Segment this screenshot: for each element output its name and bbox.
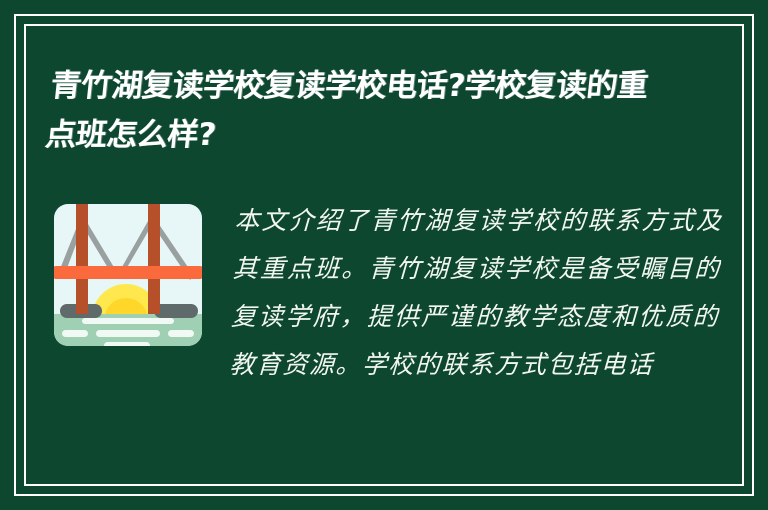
bridge-sunset-icon bbox=[48, 196, 208, 351]
article-summary: 本文介绍了青竹湖复读学校的联系方式及其重点班。青竹湖复读学校是备受瞩目的复读学府… bbox=[229, 197, 724, 389]
page-title: 青竹湖复读学校复读学校电话?学校复读的重点班怎么样? bbox=[43, 62, 653, 160]
content-row: 本文介绍了青竹湖复读学校的联系方式及其重点班。青竹湖复读学校是备受瞩目的复读学府… bbox=[48, 193, 720, 470]
poster-canvas: 青竹湖复读学校复读学校电话?学校复读的重点班怎么样? bbox=[0, 0, 768, 510]
